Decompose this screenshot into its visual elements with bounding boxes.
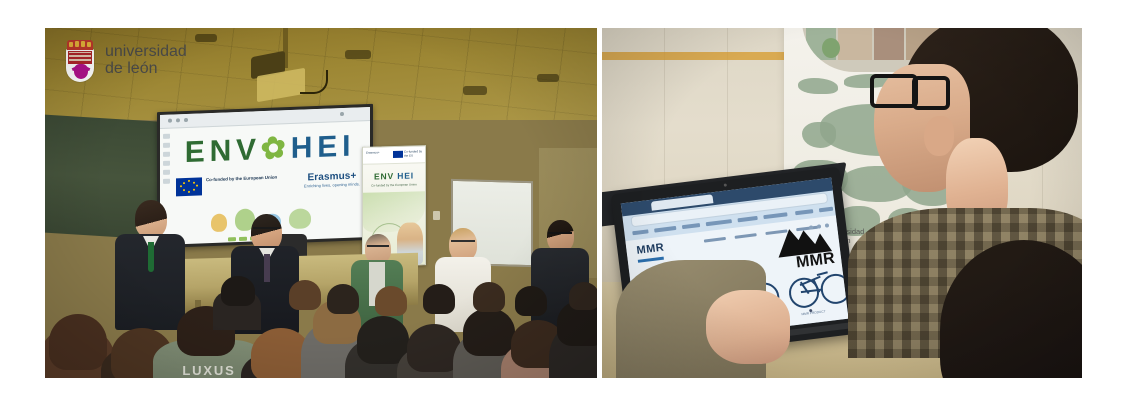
audience-member: [327, 284, 359, 314]
audience-member: [473, 282, 505, 312]
mmr-logo[interactable]: MMR: [636, 242, 665, 257]
audience-member: [375, 286, 407, 316]
leaf-icon: ✿: [259, 131, 293, 166]
eu-stars: [176, 177, 202, 196]
ear: [924, 116, 954, 156]
rollup-eu-flag-icon: [393, 151, 403, 158]
eu-flag-icon: [176, 177, 202, 196]
necktie: [148, 242, 154, 272]
ul-crest-icon: [63, 40, 97, 82]
envhei-logo: ENV✿HEI: [176, 131, 364, 168]
ceiling-light: [345, 50, 371, 59]
ul-text-line1: universidad: [105, 44, 187, 60]
laptop-browsing-photo: DI universidad de león DI: [602, 28, 1082, 378]
audience-member: [289, 280, 321, 310]
erasmus-logo: Erasmus+ Enriching lives, opening minds.: [304, 170, 360, 188]
eu-cofunded-label: Co-funded by the European Union: [206, 175, 277, 184]
erasmus-tagline: Enriching lives, opening minds.: [304, 181, 360, 188]
rollup-erasmus-label: Erasmus+: [366, 151, 380, 155]
head: [135, 200, 167, 238]
eyeglasses-icon: [451, 240, 475, 247]
eyeglasses-icon: [870, 74, 942, 104]
envhei-text-env: ENV: [185, 133, 261, 169]
ceiling-light: [537, 74, 559, 82]
rollup-title: ENV HEI: [363, 170, 425, 182]
audience-member: [49, 314, 107, 370]
speaker-man-green-tie: [113, 200, 187, 330]
envhei-text-hei: HEI: [291, 130, 355, 165]
rollup-subtitle: Co-funded by the European Union: [363, 182, 425, 188]
nav-item: [735, 233, 757, 239]
slide-logo-row: Co-funded by the European Union Erasmus+…: [172, 169, 362, 202]
rollup-eu-label: Co-funded bythe EU: [404, 150, 422, 158]
universidad-de-leon-logo: universidad de león: [55, 36, 205, 84]
webcam-icon: [724, 183, 727, 186]
mmr-logo-underline: [638, 257, 664, 263]
eyeglasses-icon: [367, 245, 389, 252]
audience-member: [423, 284, 455, 314]
necktie: [264, 254, 270, 282]
envhei-wordmark: ENV✿HEI: [176, 131, 364, 168]
eyeglasses-icon: [253, 227, 280, 235]
audience-member: [221, 276, 255, 306]
eyeglasses-icon: [548, 232, 572, 239]
audience-member: [463, 308, 515, 356]
ceiling-light: [463, 86, 487, 95]
audience-member: [515, 286, 547, 316]
hand-on-laptop: [706, 290, 790, 364]
ul-text-line2: de león: [105, 60, 187, 78]
slide-browser-toolbar: [160, 107, 370, 129]
nav-item: [704, 237, 726, 243]
page-root: ENV✿HEI Co-funded by the European Union: [0, 0, 1122, 400]
classroom-presentation-photo: ENV✿HEI Co-funded by the European Union: [45, 28, 597, 378]
wall-outlet: [433, 211, 440, 220]
rollup-header: Erasmus+ Co-funded bythe EU: [363, 146, 425, 165]
audience-member: [569, 282, 597, 310]
